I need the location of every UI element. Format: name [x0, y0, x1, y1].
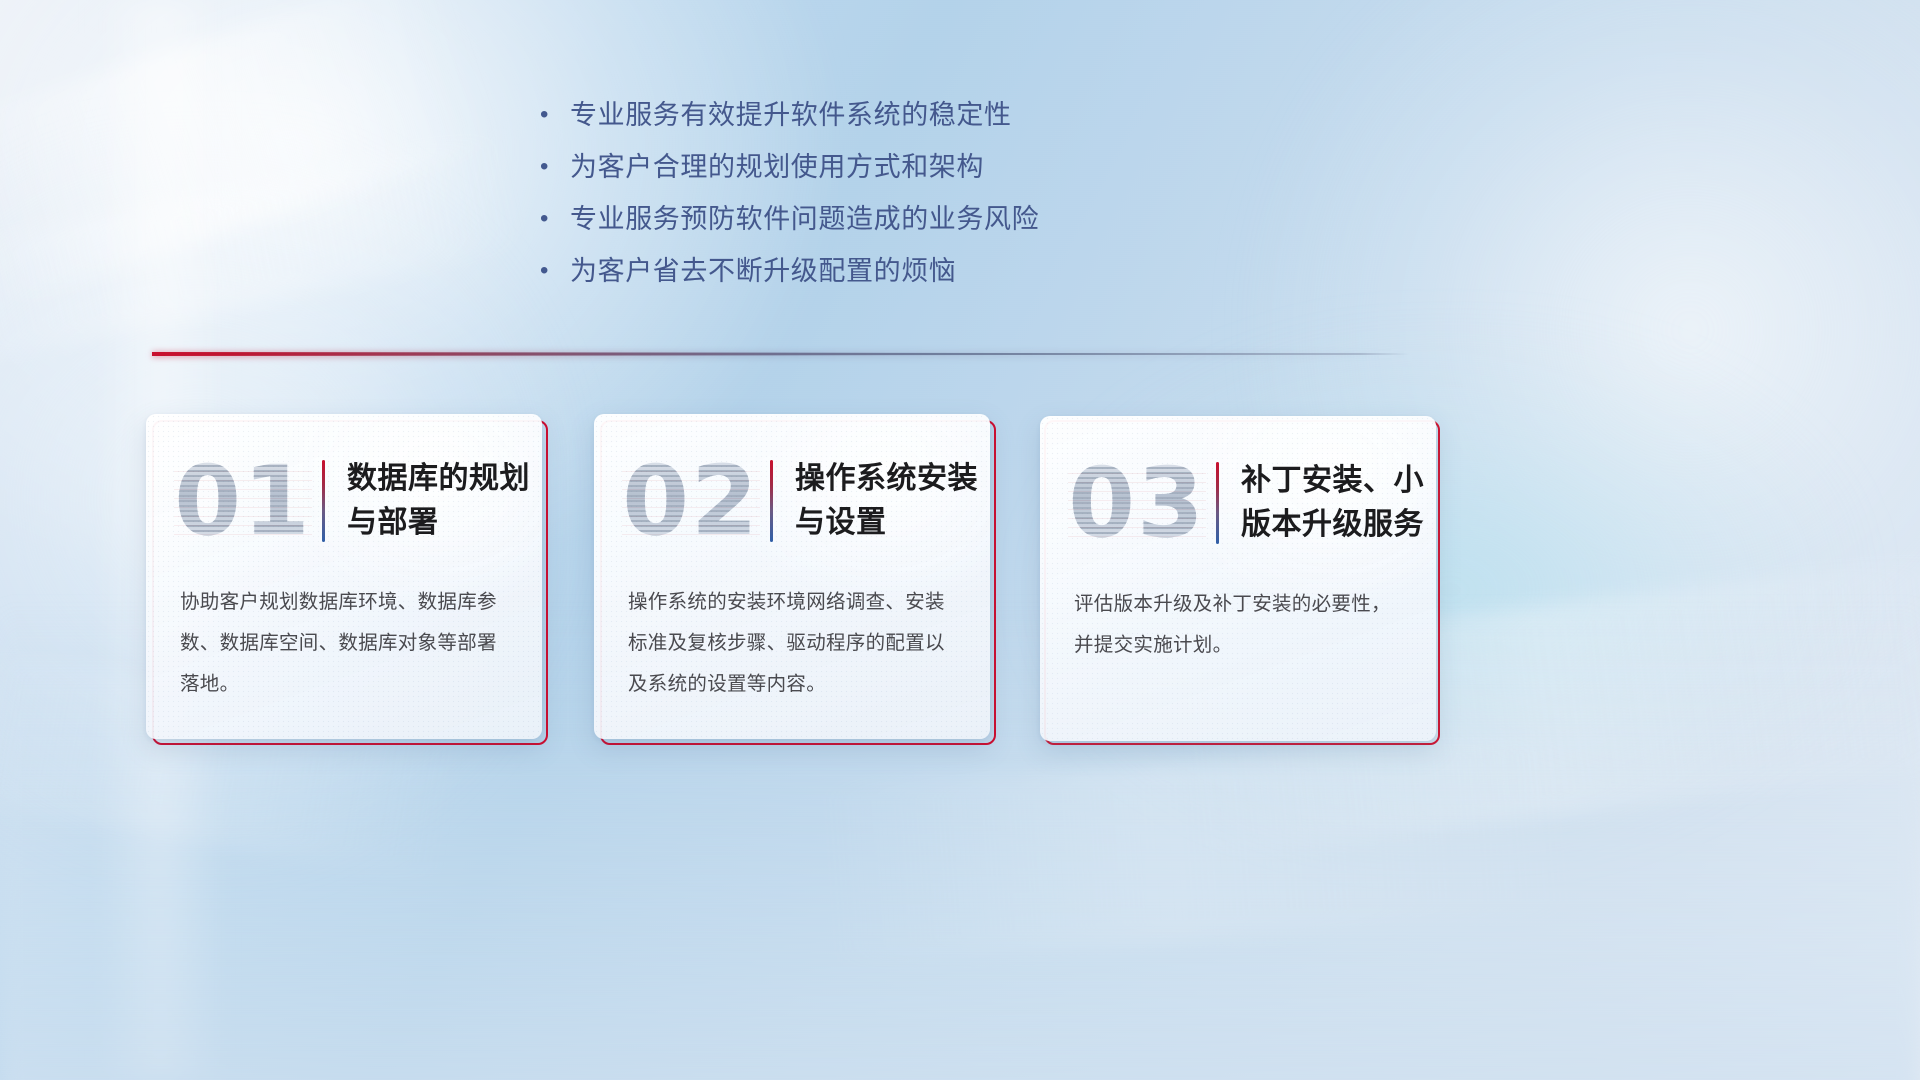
slide-canvas: • 专业服务有效提升软件系统的稳定性 • 为客户合理的规划使用方式和架构 • 专…: [0, 0, 1920, 1080]
bullet-item: • 为客户合理的规划使用方式和架构: [540, 144, 1360, 196]
card-header: 03 补丁安装、小版本升级服务: [1040, 440, 1436, 566]
card-body-text: 评估版本升级及补丁安装的必要性，并提交实施计划。: [1074, 584, 1404, 666]
bullet-text: 为客户省去不断升级配置的烦恼: [570, 248, 956, 294]
card-number-watermark: 02: [616, 445, 766, 557]
card-title-rule: [770, 460, 773, 542]
card-header: 02 操作系统安装与设置: [594, 438, 990, 564]
benefits-bullet-list: • 专业服务有效提升软件系统的稳定性 • 为客户合理的规划使用方式和架构 • 专…: [540, 92, 1360, 300]
card-body-text: 操作系统的安装环境网络调查、安装标准及复核步骤、驱动程序的配置以及系统的设置等内…: [628, 582, 958, 705]
service-card-01[interactable]: 01 数据库的规划与部署 协助客户规划数据库环境、数据库参数、数据库空间、数据库…: [152, 420, 548, 745]
card-surface: 01 数据库的规划与部署 协助客户规划数据库环境、数据库参数、数据库空间、数据库…: [146, 414, 542, 739]
card-title: 数据库的规划与部署: [347, 457, 542, 545]
card-number-watermark: 03: [1062, 447, 1212, 559]
card-title-rule: [322, 460, 325, 542]
card-surface: 03 补丁安装、小版本升级服务 评估版本升级及补丁安装的必要性，并提交实施计划。: [1040, 416, 1436, 741]
card-number-text: 01: [174, 445, 312, 557]
bullet-text: 专业服务预防软件问题造成的业务风险: [570, 196, 1039, 242]
bullet-marker-icon: •: [540, 248, 570, 294]
bullet-marker-icon: •: [540, 196, 570, 242]
card-number-watermark: 01: [168, 445, 318, 557]
bullet-item: • 为客户省去不断升级配置的烦恼: [540, 248, 1360, 300]
card-title: 补丁安装、小版本升级服务: [1241, 459, 1436, 547]
bullet-text: 专业服务有效提升软件系统的稳定性: [570, 92, 1012, 138]
card-header: 01 数据库的规划与部署: [146, 438, 542, 564]
section-divider: [152, 348, 1410, 362]
bullet-item: • 专业服务有效提升软件系统的稳定性: [540, 92, 1360, 144]
card-body-text: 协助客户规划数据库环境、数据库参数、数据库空间、数据库对象等部署落地。: [180, 582, 510, 705]
card-number-text: 02: [622, 445, 760, 557]
bullet-text: 为客户合理的规划使用方式和架构: [570, 144, 984, 190]
card-title: 操作系统安装与设置: [795, 457, 990, 545]
service-card-02[interactable]: 02 操作系统安装与设置 操作系统的安装环境网络调查、安装标准及复核步骤、驱动程…: [600, 420, 996, 745]
card-title-rule: [1216, 462, 1219, 544]
card-number-text: 03: [1068, 447, 1206, 559]
card-surface: 02 操作系统安装与设置 操作系统的安装环境网络调查、安装标准及复核步骤、驱动程…: [594, 414, 990, 739]
bullet-marker-icon: •: [540, 92, 570, 138]
service-card-03[interactable]: 03 补丁安装、小版本升级服务 评估版本升级及补丁安装的必要性，并提交实施计划。: [1044, 420, 1440, 745]
bullet-marker-icon: •: [540, 144, 570, 190]
bullet-item: • 专业服务预防软件问题造成的业务风险: [540, 196, 1360, 248]
